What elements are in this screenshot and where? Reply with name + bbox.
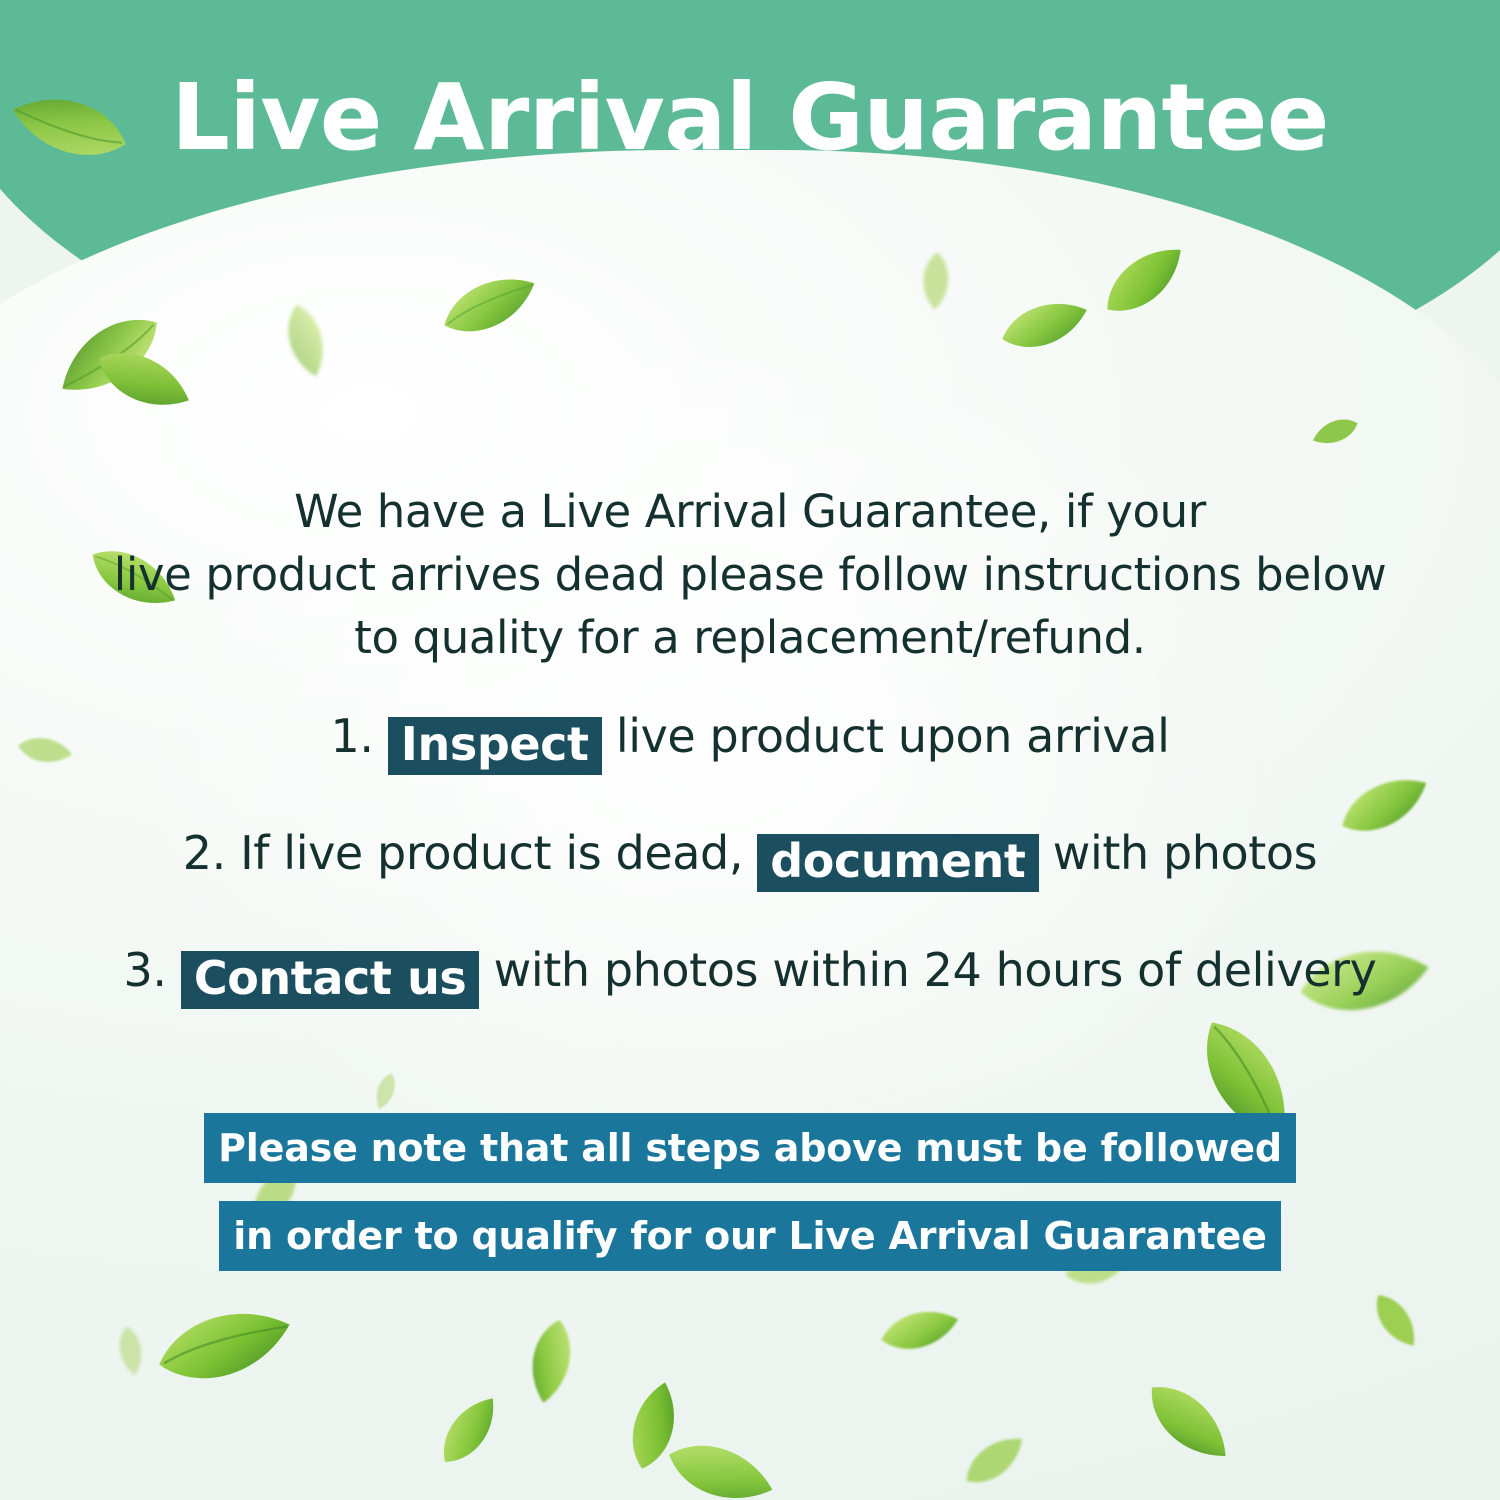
page-title: Live Arrival Guarantee	[0, 72, 1500, 164]
footer-note: Please note that all steps above must be…	[0, 1113, 1500, 1289]
intro-line-1: We have a Live Arrival Guarantee, if you…	[0, 480, 1500, 543]
step-item: 3. Contact us with photos within 24 hour…	[0, 940, 1500, 1001]
step-number: 3.	[124, 943, 167, 997]
step-item: 2. If live product is dead, document wit…	[0, 823, 1500, 884]
step-text-before: If live product is dead,	[240, 826, 743, 880]
step-text-after: with photos	[1053, 826, 1317, 880]
step-text-after: with photos within 24 hours of delivery	[494, 943, 1377, 997]
intro-line-2: live product arrives dead please follow …	[0, 543, 1500, 606]
footer-bar-line-2: in order to qualify for our Live Arrival…	[219, 1201, 1280, 1271]
step-highlight-contact-us[interactable]: Contact us	[181, 951, 480, 1009]
step-highlight-document[interactable]: document	[757, 834, 1038, 892]
step-item: 1. Inspect live product upon arrival	[0, 706, 1500, 767]
step-number: 1.	[330, 709, 373, 763]
live-arrival-guarantee-poster: Live Arrival Guarantee We have a Live Ar…	[0, 0, 1500, 1500]
footer-bar-line-1: Please note that all steps above must be…	[204, 1113, 1296, 1183]
intro-line-3: to quality for a replacement/refund.	[0, 606, 1500, 669]
step-text-after: live product upon arrival	[616, 709, 1170, 763]
intro-paragraph: We have a Live Arrival Guarantee, if you…	[0, 480, 1500, 669]
step-number: 2.	[183, 826, 226, 880]
steps-list: 1. Inspect live product upon arrival 2. …	[0, 706, 1500, 1057]
step-highlight-inspect[interactable]: Inspect	[388, 717, 602, 775]
